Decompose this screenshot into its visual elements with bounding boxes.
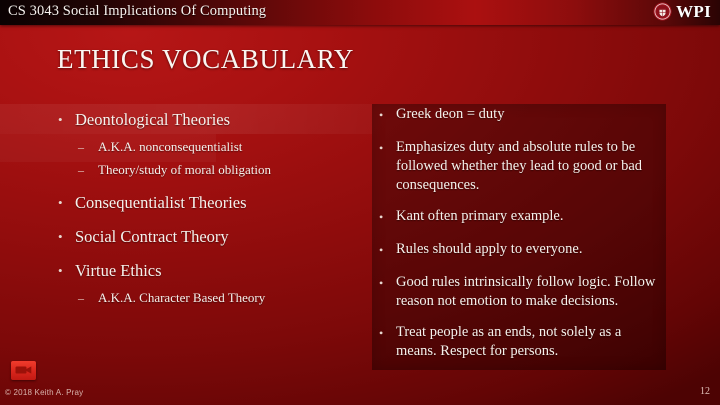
slide-header-bar: CS 3043 Social Implications Of Computing… — [0, 0, 720, 25]
list-item-label: A.K.A. Character Based Theory — [98, 287, 370, 309]
list-item: • Deontological Theories — [58, 107, 370, 133]
list-item: • Treat people as an ends, not solely as… — [379, 322, 663, 361]
list-item: • Good rules intrinsically follow logic.… — [379, 272, 663, 311]
list-item-label: Consequentialist Theories — [75, 190, 370, 216]
dash-marker: – — [78, 159, 98, 181]
video-camera-glyph — [15, 365, 32, 375]
wpi-seal-icon — [653, 2, 672, 21]
bullet-marker: • — [379, 104, 396, 126]
list-item: • Kant often primary example. — [379, 206, 663, 228]
wpi-wordmark: WPI — [676, 2, 711, 21]
video-camera-icon[interactable] — [11, 361, 36, 380]
bullet-marker: • — [58, 190, 75, 216]
list-item: • Emphasizes duty and absolute rules to … — [379, 137, 663, 195]
dash-marker: – — [78, 136, 98, 158]
list-item: • Virtue Ethics — [58, 258, 370, 284]
list-item-label: Theory/study of moral obligation — [98, 159, 370, 181]
list-item: • Consequentialist Theories — [58, 190, 370, 216]
bullet-marker: • — [379, 137, 396, 159]
list-item: – Theory/study of moral obligation — [58, 159, 370, 181]
list-item-label: Greek deon = duty — [396, 104, 663, 124]
list-item-label: Rules should apply to everyone. — [396, 239, 663, 259]
dash-marker: – — [78, 287, 98, 309]
slide-title: ETHICS VOCABULARY — [57, 44, 354, 75]
bullet-marker: • — [58, 258, 75, 284]
list-item-label: Good rules intrinsically follow logic. F… — [396, 272, 663, 311]
list-item: – A.K.A. Character Based Theory — [58, 287, 370, 309]
presentation-slide: CS 3043 Social Implications Of Computing… — [0, 0, 720, 405]
left-bullet-list: • Deontological Theories – A.K.A. noncon… — [58, 107, 370, 310]
list-item-label: Social Contract Theory — [75, 224, 370, 250]
list-item-label: Deontological Theories — [75, 107, 370, 133]
bullet-marker: • — [379, 272, 396, 294]
list-item-label: Treat people as an ends, not solely as a… — [396, 322, 663, 361]
bullet-marker: • — [379, 322, 396, 344]
list-item-label: Kant often primary example. — [396, 206, 663, 226]
bullet-marker: • — [379, 206, 396, 228]
bullet-marker: • — [58, 224, 75, 250]
spacer — [58, 182, 370, 190]
list-item: • Rules should apply to everyone. — [379, 239, 663, 261]
list-item-label: A.K.A. nonconsequentialist — [98, 136, 370, 158]
list-item-label: Virtue Ethics — [75, 258, 370, 284]
bullet-marker: • — [58, 107, 75, 133]
list-item: – A.K.A. nonconsequentialist — [58, 136, 370, 158]
page-number: 12 — [700, 386, 710, 397]
list-item: • Greek deon = duty — [379, 104, 663, 126]
list-item: • Social Contract Theory — [58, 224, 370, 250]
copyright-notice: © 2018 Keith A. Pray — [5, 388, 83, 397]
wpi-logo: WPI — [653, 2, 711, 21]
right-bullet-list: • Greek deon = duty • Emphasizes duty an… — [379, 104, 663, 372]
course-title: CS 3043 Social Implications Of Computing — [8, 3, 266, 20]
list-item-label: Emphasizes duty and absolute rules to be… — [396, 137, 663, 195]
bullet-marker: • — [379, 239, 396, 261]
